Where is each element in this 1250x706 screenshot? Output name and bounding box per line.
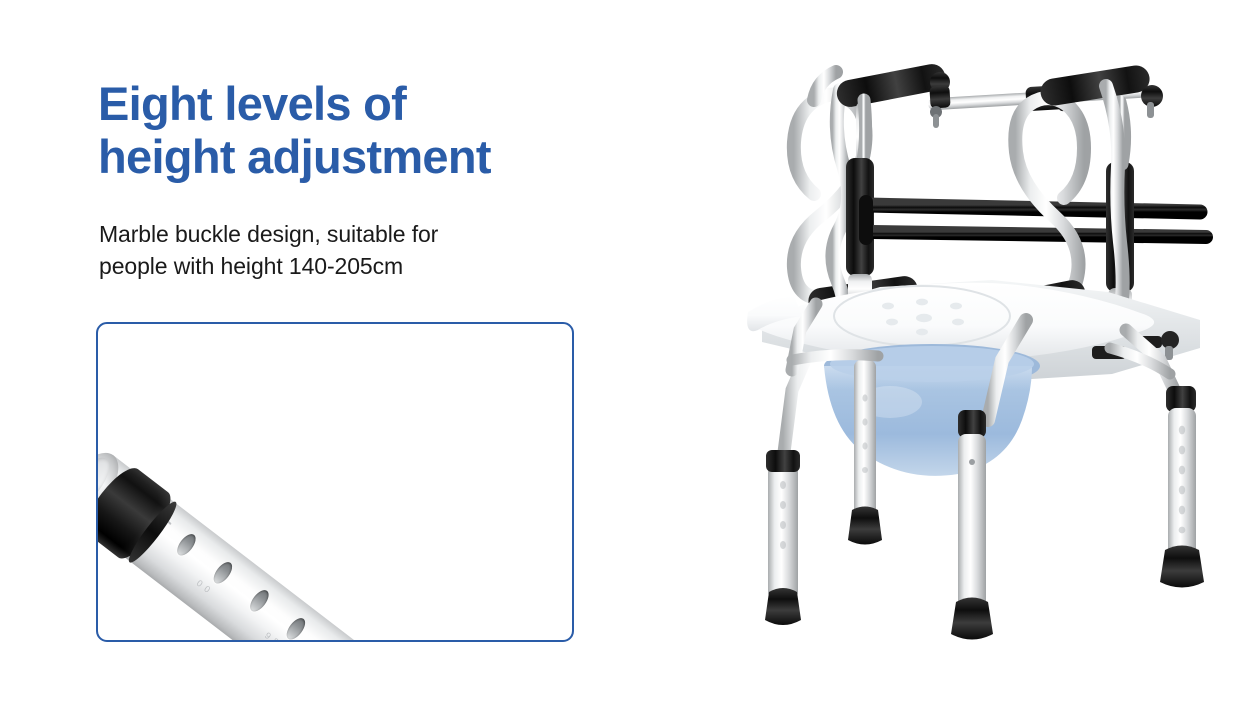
page-title: Eight levels of height adjustment [98,77,598,183]
page-subtitle: Marble buckle design, suitable for peopl… [99,218,569,282]
detail-photo-frame: 0 0 9 8 [96,322,574,642]
aluminium-tube: 0 0 9 8 [98,452,572,640]
text-column: Eight levels of height adjustment Marble… [0,0,620,706]
tube-body [98,452,572,640]
product-feature-banner: Eight levels of height adjustment Marble… [0,0,1250,706]
cross-brace-left [792,355,878,360]
tube-illustration: 0 0 9 8 [98,324,572,640]
tube-closeup-image: 0 0 9 8 [98,324,572,640]
product-image [640,30,1250,680]
